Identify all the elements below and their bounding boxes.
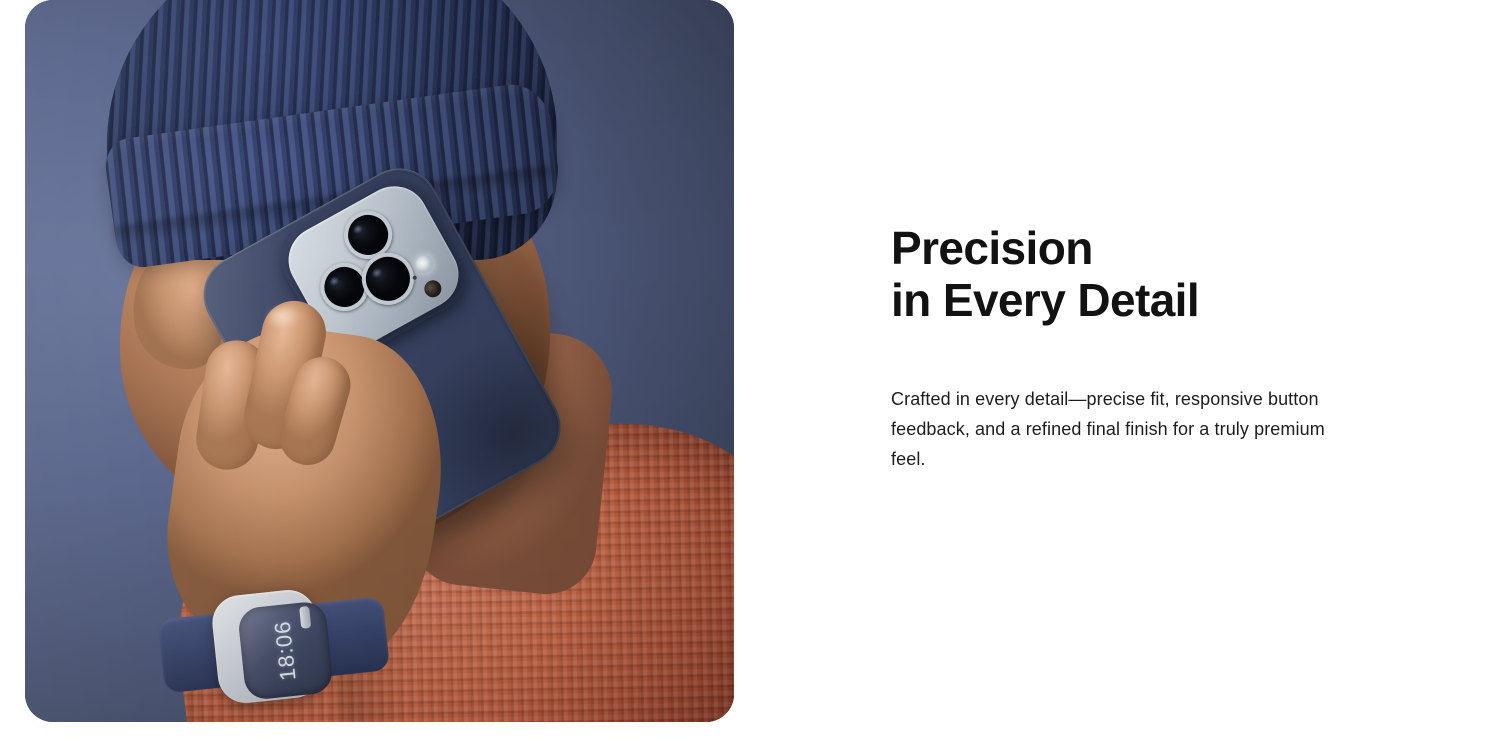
feature-text-column: Precision in Every Detail Crafted in eve… xyxy=(891,0,1391,753)
product-feature-section: NOBT 18:06 P xyxy=(0,0,1500,753)
feature-headline: Precision in Every Detail xyxy=(891,222,1199,326)
product-lifestyle-photo: NOBT 18:06 xyxy=(25,0,734,722)
photo-vignette xyxy=(25,0,734,722)
feature-body-text: Crafted in every detail—precise fit, res… xyxy=(891,384,1343,474)
